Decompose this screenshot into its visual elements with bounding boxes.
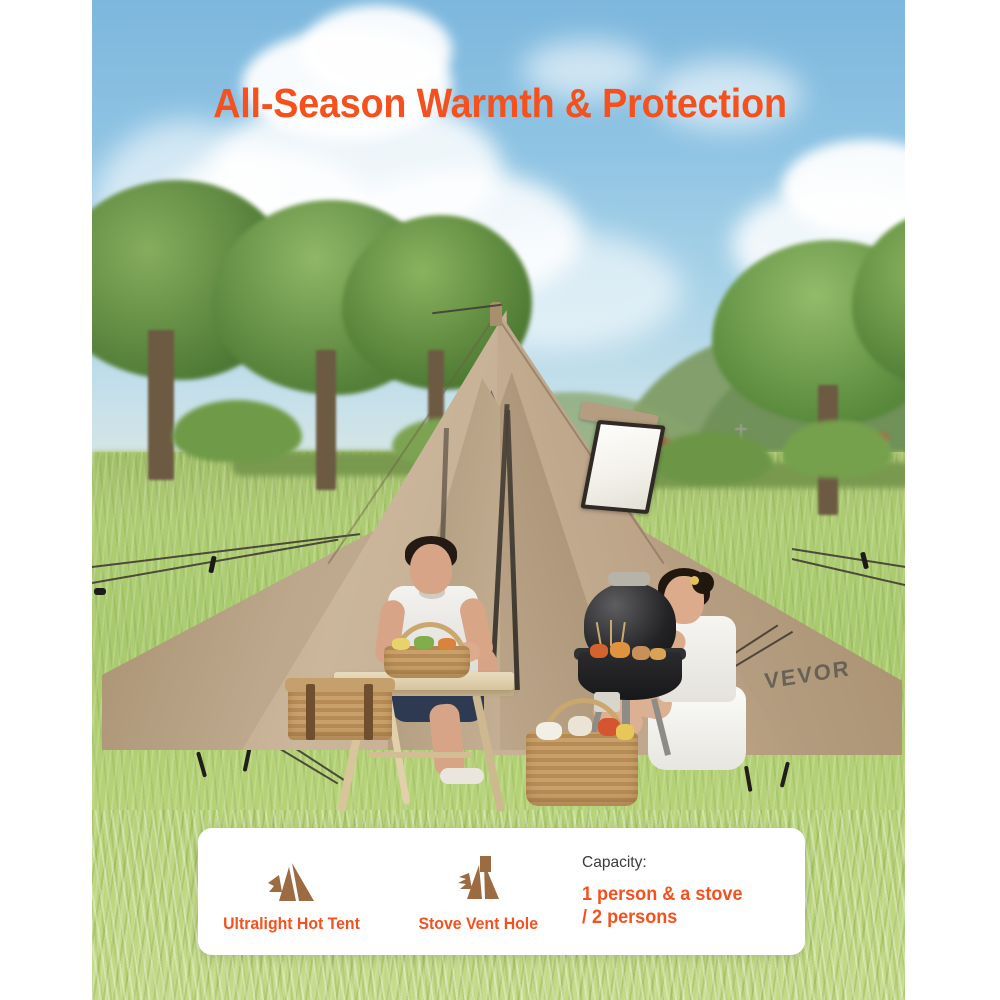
tent-stake — [196, 751, 207, 777]
basket-food — [414, 636, 434, 649]
stove-vent-tent-icon — [454, 849, 504, 903]
basket-food — [536, 722, 562, 740]
capacity-line-2: / 2 persons — [582, 906, 794, 929]
feature-stove-vent-hole: Stove Vent Hole — [385, 849, 572, 934]
table-brace — [368, 752, 472, 758]
feature-label: Ultralight Hot Tent — [223, 914, 360, 934]
grill-lid-handle — [608, 572, 650, 586]
tent-stake — [780, 762, 790, 788]
basket-food — [392, 638, 410, 650]
feature-label: Stove Vent Hole — [419, 914, 538, 934]
tent-stake — [744, 766, 752, 792]
pyramid-tent: VEVOR — [92, 300, 905, 820]
food-skewer — [610, 620, 612, 646]
man-sandal — [440, 768, 484, 784]
guy-line-peg-clip — [94, 588, 106, 595]
picnic-basket-foreground — [526, 732, 638, 806]
guy-line — [792, 548, 905, 570]
guy-line-tensioner — [208, 556, 216, 574]
woman-hair-clip — [690, 576, 699, 585]
capacity-line-1: 1 person & a stove — [582, 883, 794, 906]
page-title: All-Season Warmth & Protection — [40, 80, 960, 127]
hamper-strap — [306, 684, 315, 740]
basket-food — [568, 716, 592, 736]
capacity-block: Capacity: 1 person & a stove / 2 persons — [572, 854, 805, 929]
tent-window — [580, 420, 665, 514]
basket-food — [438, 638, 456, 650]
hamper-strap — [364, 684, 373, 740]
tent-icon — [265, 849, 319, 903]
basket-food — [616, 724, 634, 740]
picnic-hamper — [288, 684, 392, 740]
man-head — [410, 544, 452, 594]
grilled-food — [650, 648, 666, 660]
grilled-food — [590, 644, 608, 658]
feature-panel: Ultralight Hot Tent Stove Vent Hole Capa… — [198, 828, 805, 955]
picnic-basket — [384, 646, 470, 678]
picnic-hamper-lid — [285, 678, 395, 692]
product-marketing-image: VEVOR — [0, 0, 1000, 1000]
grilled-food — [632, 646, 650, 660]
capacity-title: Capacity: — [582, 854, 798, 872]
grilled-food — [610, 642, 630, 658]
feature-ultralight-hot-tent: Ultralight Hot Tent — [198, 849, 385, 934]
